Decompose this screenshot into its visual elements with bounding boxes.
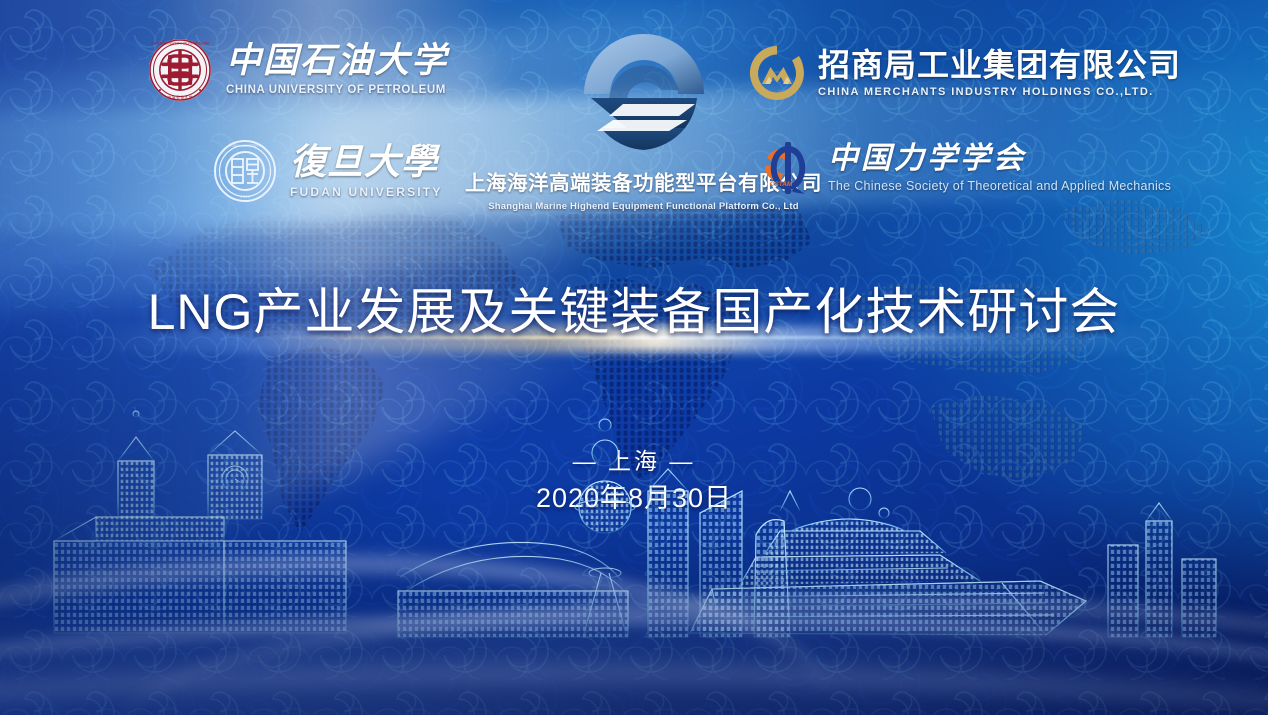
svg-text:CSTAM: CSTAM (770, 181, 793, 188)
svg-text:1 9 0 5: 1 9 0 5 (240, 195, 250, 199)
logo-china-university-of-petroleum: CHINA UNIVERSITY OF PETROLEUM 中 国 石 油 大 … (148, 38, 448, 102)
svg-text:CHINA UNIVERSITY OF PETROLEUM: CHINA UNIVERSITY OF PETROLEUM (151, 42, 209, 46)
fudan-seal-icon: FUDAN UNIVERSITY 1 9 0 5 (214, 140, 276, 202)
logo-chinese-society-mechanics: CSTAM 中国力学学会 The Chinese Society of Theo… (757, 140, 1171, 196)
event-location: — 上海 — (0, 442, 1268, 476)
logo-cn-name: 招商局工业集团有限公司 (818, 49, 1181, 81)
logo-china-merchants-industry: 招商局工业集团有限公司 CHINA MERCHANTS INDUSTRY HOL… (748, 44, 1181, 102)
bottom-ribbon-glow (0, 620, 1268, 715)
logo-en-name: FUDAN UNIVERSITY (290, 186, 443, 198)
smhe-wave-ship-icon (575, 28, 713, 160)
logo-cn-name: 復旦大學 (290, 144, 443, 180)
page-title: LNG产业发展及关键装备国产化技术研讨会 (0, 272, 1268, 344)
logo-cn-name: 中国力学学会 (828, 144, 1171, 174)
conference-poster: CHINA UNIVERSITY OF PETROLEUM 中 国 石 油 大 … (0, 0, 1268, 715)
svg-text:中 国 石 油 大 学: 中 国 石 油 大 学 (168, 95, 193, 100)
logo-cn-name: 中国石油大学 (226, 43, 448, 78)
svg-text:FUDAN UNIVERSITY: FUDAN UNIVERSITY (230, 144, 262, 148)
logo-en-name: The Chinese Society of Theoretical and A… (828, 180, 1171, 193)
cup-seal-icon: CHINA UNIVERSITY OF PETROLEUM 中 国 石 油 大 … (148, 38, 212, 102)
logo-en-name: CHINA UNIVERSITY OF PETROLEUM (226, 85, 448, 97)
logo-en-name: CHINA MERCHANTS INDUSTRY HOLDINGS CO.,LT… (818, 87, 1181, 98)
event-date: 2020年8月30日 (0, 476, 1268, 515)
logo-en-name: Shanghai Marine Highend Equipment Functi… (488, 201, 799, 212)
cstam-zhong-icon: CSTAM (757, 140, 815, 196)
cmih-monogram-icon (748, 44, 806, 102)
logo-fudan-university: FUDAN UNIVERSITY 1 9 0 5 復旦大學 FUDAN UNIV… (214, 140, 443, 202)
